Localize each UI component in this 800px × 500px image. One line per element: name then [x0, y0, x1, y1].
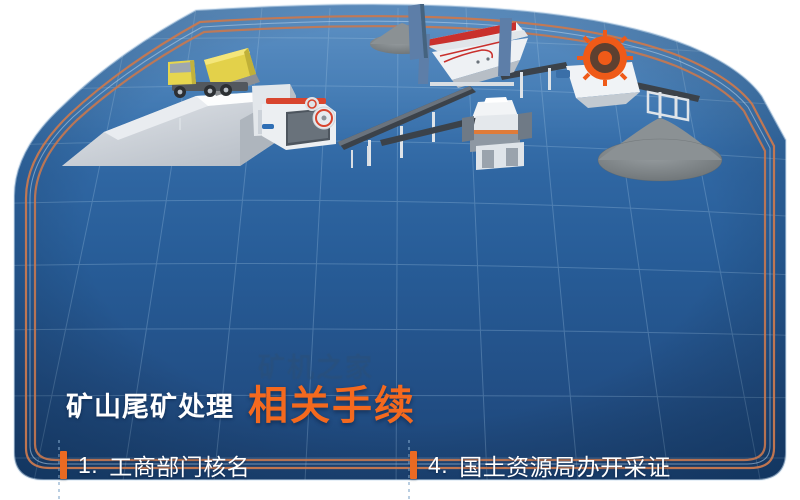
bullet-bar-icon — [60, 451, 67, 479]
page-title: 矿山尾矿处理 相关手续 — [66, 370, 416, 428]
exhaust-stack — [408, 4, 428, 60]
vsi-crusher — [462, 97, 532, 170]
list-item[interactable]: 2. 安全管理局审批 — [60, 495, 410, 500]
list-item[interactable]: 1. 工商部门核名 — [60, 435, 410, 495]
list-item[interactable]: 4. 国土资源局办开采证 — [410, 435, 760, 495]
bullet-bar-icon — [410, 451, 417, 479]
jaw-crusher — [262, 97, 336, 150]
sand-washer — [556, 30, 640, 108]
dump-truck — [168, 48, 260, 98]
content-panel: 矿机之家 矿山尾矿处理 相关手续 1. 工商部门核名 4. 国土资源局办开采证 … — [0, 170, 800, 500]
title-prefix: 矿山尾矿处理 — [66, 385, 234, 424]
title-main: 相关手续 — [248, 373, 416, 431]
list-item[interactable]: 5. 环保局测评 — [410, 495, 760, 500]
infographic-root: 矿机之家 矿山尾矿处理 相关手续 1. 工商部门核名 4. 国土资源局办开采证 … — [0, 0, 800, 500]
list-item-label: 工商部门核名 — [109, 448, 250, 482]
list-item-index: 4. — [428, 452, 448, 479]
list-item-label: 国土资源局办开采证 — [459, 448, 671, 482]
list-item-index: 1. — [78, 452, 98, 479]
procedure-list: 1. 工商部门核名 4. 国土资源局办开采证 2. 安全管理局审批 5. 环保局… — [0, 435, 800, 500]
concrete-ramp — [62, 92, 276, 166]
